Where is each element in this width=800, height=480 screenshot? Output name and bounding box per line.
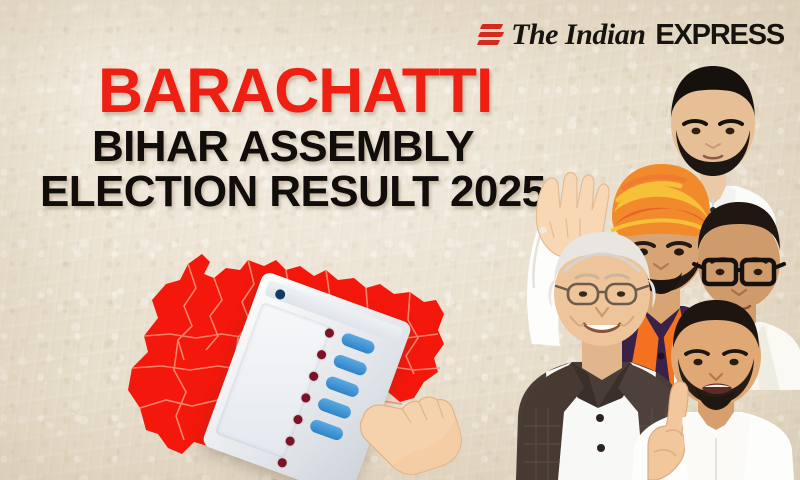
evm-led [284,435,296,447]
pointing-hand-icon [348,360,468,480]
election-result-poster: The Indian EXPRESS BARACHATTI BIHAR ASSE… [0,0,800,480]
evm-led [316,349,328,361]
headline-constituency: BARACHATTI [98,62,516,121]
headline-line-bihar-assembly: BIHAR ASSEMBLY [92,126,520,167]
evm-led [276,457,288,469]
evm-vote-button[interactable] [308,418,344,442]
evm-led [300,392,312,404]
bihar-map-graphic [118,240,448,470]
evm-led [308,371,320,383]
headline-block: BARACHATTI BIHAR ASSEMBLY ELECTION RESUL… [40,62,520,212]
evm-led [324,327,336,339]
politician-collage [470,0,800,480]
headline-line-election-result: ELECTION RESULT 2025 [40,171,520,212]
figure-tejashwi-yadav [618,296,800,480]
evm-led [292,414,304,426]
